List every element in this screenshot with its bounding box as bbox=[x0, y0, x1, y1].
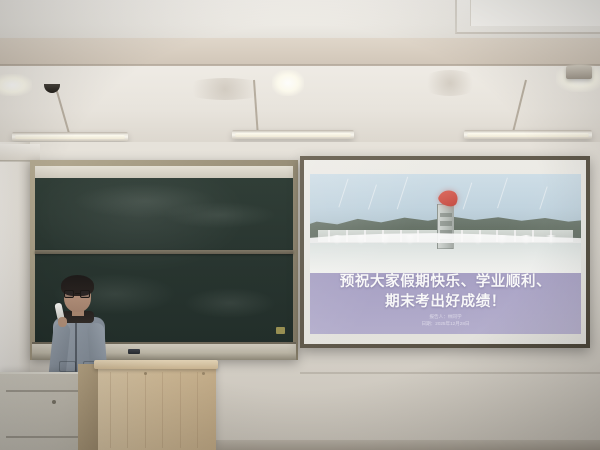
wall-seam bbox=[300, 372, 600, 374]
slide-photo bbox=[310, 174, 581, 273]
fluorescent-tube-light bbox=[232, 130, 354, 139]
projection-screen: 预祝大家假期快乐、学业顺利、 期末考出好成绩！ 报告人：林同学 日期：2025年… bbox=[300, 156, 590, 348]
presentation-slide: 预祝大家假期快乐、学业顺利、 期末考出好成绩！ 报告人：林同学 日期：2025年… bbox=[310, 174, 581, 334]
blackboard-eraser bbox=[128, 349, 140, 354]
lamp-glow bbox=[272, 70, 304, 96]
slide-subtitle-presenter: 报告人：林同学 bbox=[310, 313, 581, 320]
cabinet-lock[interactable] bbox=[52, 400, 56, 404]
ceiling-panel-right-inner bbox=[470, 0, 600, 26]
slide-subtitle: 报告人：林同学 日期：2025年12月28日 bbox=[310, 313, 581, 327]
lectern-screw bbox=[202, 372, 205, 375]
classroom-photo: 预祝大家假期快乐、学业顺利、 期末考出好成绩！ 报告人：林同学 日期：2025年… bbox=[0, 0, 600, 450]
chalkboard-sticker bbox=[276, 327, 285, 334]
lectern-top-surface bbox=[94, 360, 218, 369]
slide-title: 预祝大家假期快乐、学业顺利、 期末考出好成绩！ bbox=[310, 273, 581, 312]
eyeglasses-icon bbox=[64, 290, 91, 298]
jacket-pocket bbox=[59, 361, 76, 372]
lectern-side-panel bbox=[78, 364, 98, 450]
ceiling-stain bbox=[420, 70, 480, 96]
ceiling-stain bbox=[180, 78, 270, 100]
slide-title-line-2: 期末考出好成绩！ bbox=[310, 293, 581, 313]
chalkboard-divider bbox=[35, 250, 293, 254]
wall-column-cap bbox=[0, 144, 40, 161]
ceiling-projector bbox=[566, 66, 592, 79]
chalkboard-top-rail bbox=[35, 166, 293, 178]
slide-subtitle-date: 日期：2025年12月28日 bbox=[310, 320, 581, 327]
lamp-glow bbox=[0, 74, 32, 96]
screen-surface: 预祝大家假期快乐、学业顺利、 期末考出好成绩！ 报告人：林同学 日期：2025年… bbox=[304, 160, 586, 344]
slide-title-line-1: 预祝大家假期快乐、学业顺利、 bbox=[310, 273, 581, 293]
fluorescent-tube-light bbox=[12, 132, 128, 141]
wooden-lectern bbox=[96, 366, 216, 450]
ceiling-beam bbox=[0, 38, 600, 66]
lectern-screw bbox=[144, 372, 147, 375]
presenter-hand bbox=[58, 317, 67, 327]
fluorescent-tube-light bbox=[464, 130, 592, 139]
wall-seam bbox=[0, 160, 34, 162]
